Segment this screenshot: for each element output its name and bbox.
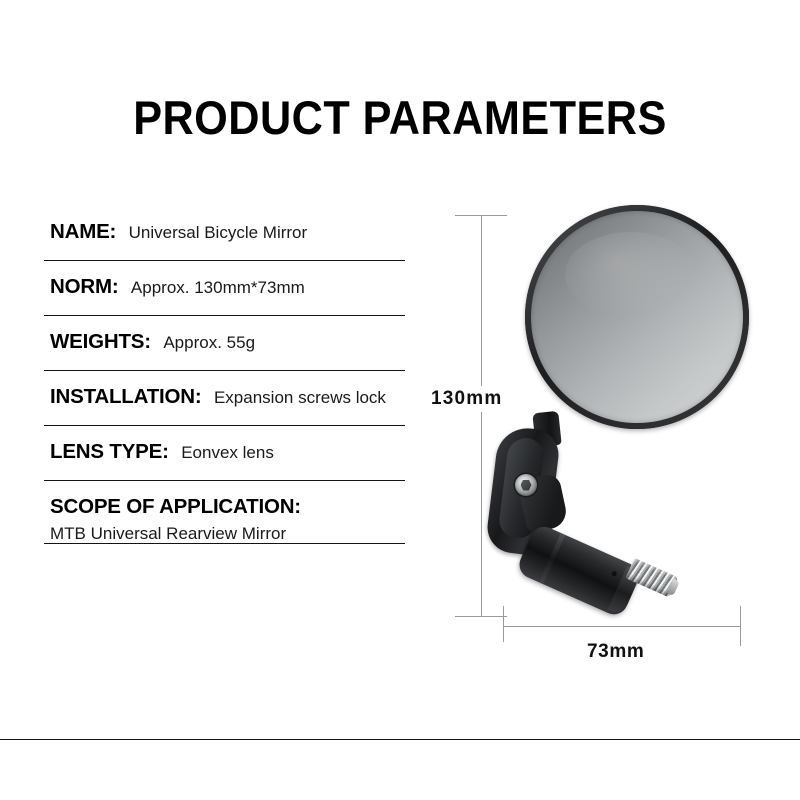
height-dimension-tick-bottom [455, 616, 507, 617]
spec-value-installation: Expansion screws lock [214, 388, 386, 407]
spec-list: NAME: Universal Bicycle Mirror NORM: App… [44, 214, 406, 544]
spec-row-norm: NORM: Approx. 130mm*73mm [44, 261, 406, 315]
spec-label-weights: WEIGHTS: [50, 330, 151, 353]
spec-value-lens-type: Eonvex lens [181, 443, 274, 462]
barrel-dot [611, 570, 618, 577]
width-dimension-tick-right [740, 606, 741, 646]
height-dimension-label: 130mm [430, 386, 504, 412]
spec-row-weights: WEIGHTS: Approx. 55g [44, 316, 406, 370]
width-dimension-line [503, 626, 741, 627]
spec-value-scope: MTB Universal Rearview Mirror [50, 524, 406, 544]
width-dimension-label: 73mm [583, 640, 648, 664]
height-dimension-line [481, 216, 482, 616]
pivot-bolt-icon [515, 474, 537, 496]
spec-value-norm: Approx. 130mm*73mm [131, 278, 305, 297]
spec-row-scope: SCOPE OF APPLICATION: MTB Universal Rear… [44, 481, 406, 543]
barrel-ring [539, 533, 566, 584]
page-title: PRODUCT PARAMETERS [32, 92, 768, 144]
mirror-sheen [565, 232, 696, 317]
bottom-divider [0, 739, 800, 740]
product-illustration [430, 190, 800, 670]
spec-label-name: NAME: [50, 220, 116, 243]
width-dimension-tick-left [503, 606, 504, 642]
spec-row-name: NAME: Universal Bicycle Mirror [44, 214, 406, 260]
mount-barrel [515, 522, 643, 619]
mirror-head [525, 205, 749, 429]
spec-value-weights: Approx. 55g [163, 333, 255, 352]
screw-tip [667, 579, 680, 596]
spec-label-installation: INSTALLATION: [50, 385, 202, 408]
mirror-glass [531, 211, 743, 423]
spec-label-scope: SCOPE OF APPLICATION: [50, 495, 301, 518]
spec-row-installation: INSTALLATION: Expansion screws lock [44, 371, 406, 425]
spec-label-lens-type: LENS TYPE: [50, 440, 169, 463]
expansion-screw [626, 558, 679, 598]
spec-row-lens-type: LENS TYPE: Eonvex lens [44, 426, 406, 480]
spec-label-norm: NORM: [50, 275, 118, 298]
spec-value-name: Universal Bicycle Mirror [129, 223, 308, 242]
product-parameters-page: PRODUCT PARAMETERS NAME: Universal Bicyc… [0, 0, 800, 800]
